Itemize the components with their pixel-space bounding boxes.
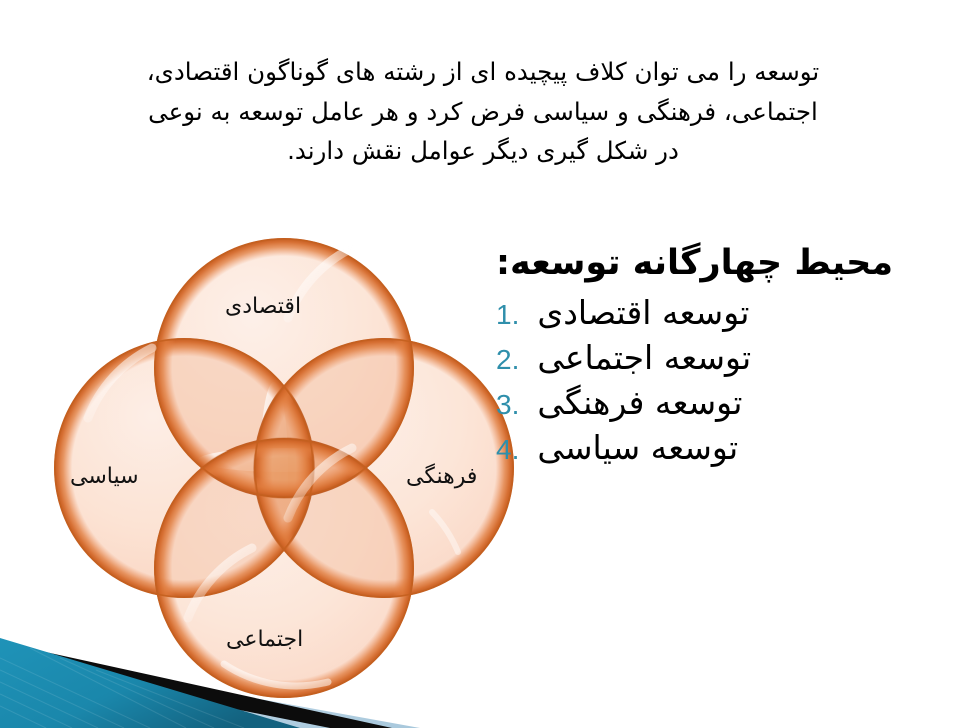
list-item-label: توسعه فرهنگی [537, 382, 742, 425]
list-item-label: توسعه سیاسی [537, 427, 738, 470]
list-item-label: توسعه اجتماعی [537, 337, 751, 380]
intro-line-2: اجتماعی، فرهنگی و سیاسی فرض کرد و هر عام… [50, 92, 916, 132]
development-list: توسعه اقتصادی 1. توسعه اجتماعی 2. توسعه … [470, 292, 950, 470]
list-item: توسعه اجتماعی 2. [470, 337, 950, 380]
venn-diagram: اقتصادی سیاسی فرهنگی اجتماعی [28, 212, 540, 702]
list-item: توسعه سیاسی 4. [470, 427, 950, 470]
list-item-number: 2. [496, 342, 519, 378]
list-item-label: توسعه اقتصادی [537, 292, 749, 335]
list-item-number: 3. [496, 387, 519, 423]
venn-label-social: اجتماعی [226, 627, 303, 652]
venn-label-political: سیاسی [70, 464, 139, 489]
list-item-number: 1. [496, 297, 519, 333]
slide-canvas: توسعه را می توان کلاف پیچیده ای از رشته … [0, 0, 968, 728]
intro-line-3: در شکل گیری دیگر عوامل نقش دارند. [50, 131, 916, 171]
right-column: محیط چهارگانه توسعه: توسعه اقتصادی 1. تو… [470, 243, 950, 472]
list-item-number: 4. [496, 432, 519, 468]
list-item: توسعه اقتصادی 1. [470, 292, 950, 335]
venn-label-cultural: فرهنگی [406, 464, 477, 489]
intro-paragraph: توسعه را می توان کلاف پیچیده ای از رشته … [50, 52, 916, 171]
intro-line-1: توسعه را می توان کلاف پیچیده ای از رشته … [50, 52, 916, 92]
list-item: توسعه فرهنگی 3. [470, 382, 950, 425]
venn-label-economic: اقتصادی [225, 294, 301, 319]
environment-heading: محیط چهارگانه توسعه: [470, 243, 950, 284]
